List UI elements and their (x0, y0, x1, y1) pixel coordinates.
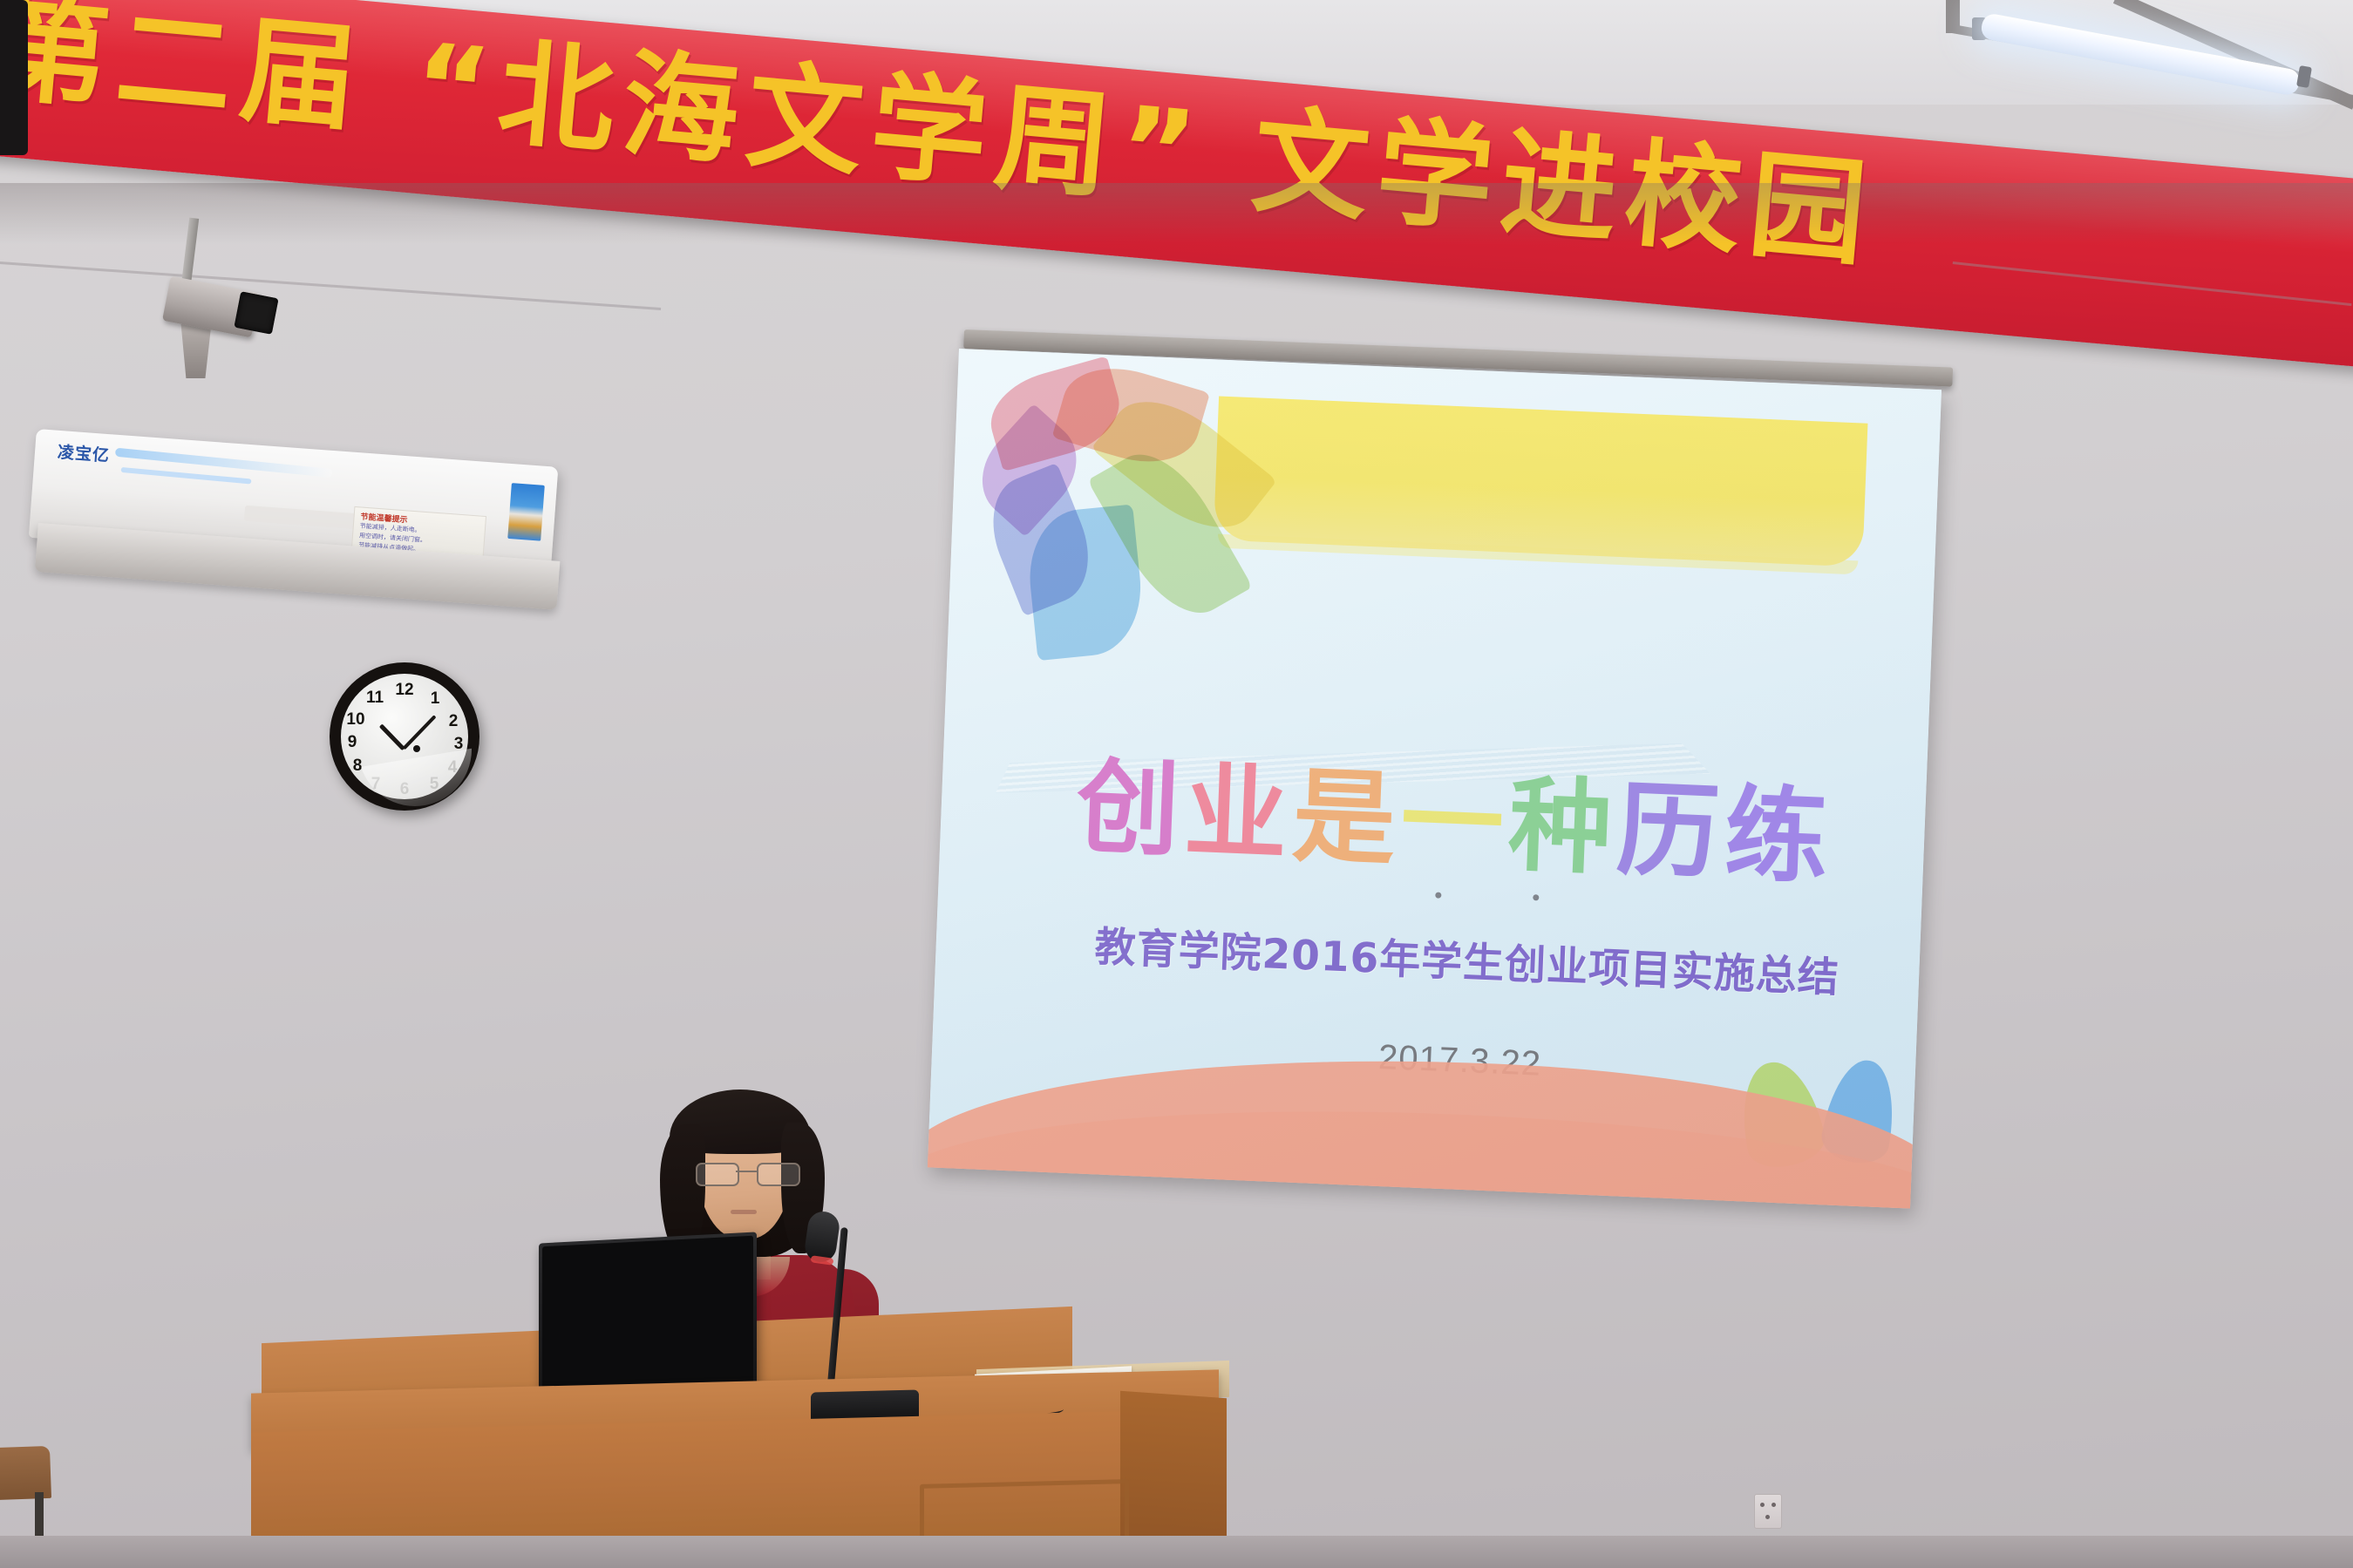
wooden-chair (0, 1446, 51, 1500)
glasses-lens-left (696, 1163, 739, 1186)
monitor-screen (542, 1236, 753, 1401)
clock-numeral-11: 11 (365, 689, 384, 708)
socket-hole-1 (1760, 1503, 1765, 1507)
wall-clock: 12 1 2 3 4 5 6 7 8 9 10 11 (330, 662, 479, 811)
glasses-bridge (736, 1171, 757, 1172)
ac-energy-label (507, 483, 545, 541)
security-camera-lens-icon (234, 291, 278, 335)
presenter-mouth (731, 1210, 757, 1214)
floor (0, 1536, 2353, 1568)
security-camera-mount (171, 324, 221, 378)
clock-numeral-9: 9 (343, 733, 362, 752)
ac-brand-label: 凌宝亿 (57, 439, 111, 466)
slide-title-char-7: 练 (1723, 782, 1834, 889)
scene-photograph: 第二届 “北海文学周” 文学进校园 凌宝亿 节能温馨提示 节能减排，人走断电。 … (0, 0, 2353, 1568)
slide-title-char-5: 种 (1506, 773, 1618, 880)
slide-yellow-bar (1214, 397, 1868, 567)
socket-hole-3 (1765, 1515, 1770, 1519)
banner-left-post (0, 0, 28, 155)
slide-title-char-3: 是 (1290, 764, 1402, 872)
clock-glass-reflection (358, 743, 472, 806)
slide-title-char-2: 业 (1183, 759, 1295, 866)
clock-face: 12 1 2 3 4 5 6 7 8 9 10 11 (341, 674, 468, 799)
wall-shadow (0, 183, 2353, 244)
clock-numeral-1: 1 (425, 689, 445, 709)
presenter-glasses (696, 1163, 797, 1184)
socket-hole-2 (1772, 1503, 1776, 1507)
wall-seam-upper (0, 261, 661, 310)
glasses-lens-right (757, 1163, 800, 1186)
slide-title-char-6: 历 (1615, 777, 1726, 885)
clock-numeral-2: 2 (444, 712, 463, 731)
ac-display-panel (244, 506, 367, 530)
clock-center-pin (413, 745, 420, 752)
clock-numeral-10: 10 (346, 710, 365, 730)
slide-title: 创业是一种历练 (1075, 755, 1835, 889)
projection-screen: 创业是一种历练 教育学院2016年学生创业项目实施总结 2017.3.22 (928, 349, 1942, 1209)
wall-power-socket (1754, 1494, 1782, 1529)
clock-hour-hand (379, 723, 405, 750)
slide-title-char-1: 创 (1075, 755, 1187, 862)
ac-highlight-secondary (121, 467, 252, 485)
clock-minute-hand (403, 715, 437, 750)
slide-title-char-4: 一 (1398, 769, 1510, 876)
clock-numeral-12: 12 (395, 681, 414, 700)
